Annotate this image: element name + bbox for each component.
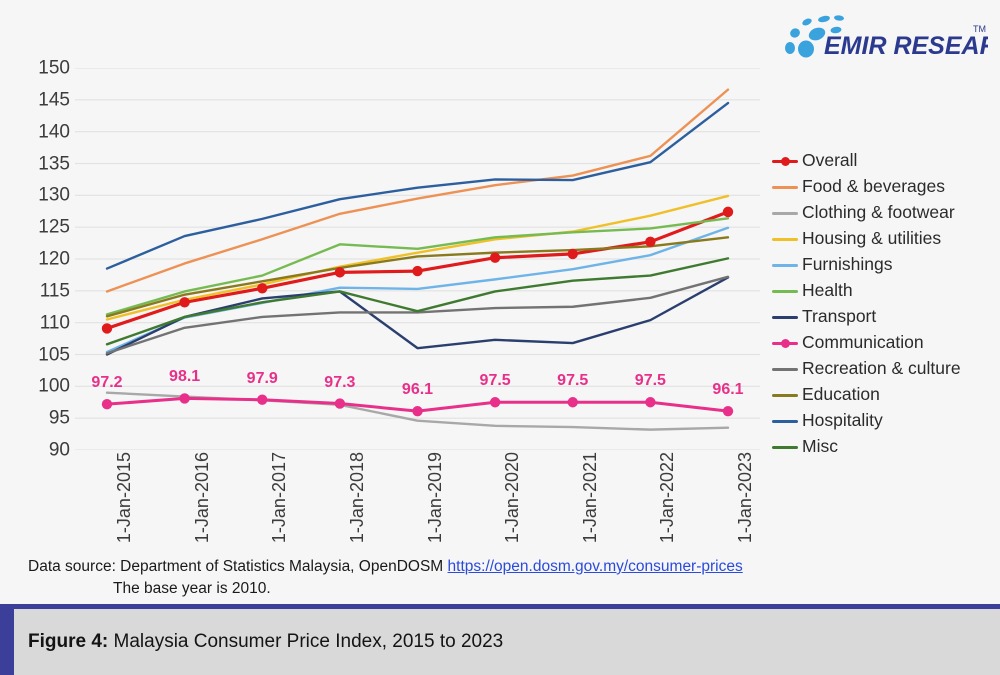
legend-swatch-icon	[772, 204, 798, 222]
x-axis-tick-label: 1-Jan-2022	[658, 452, 676, 543]
series-lines	[107, 90, 728, 430]
x-axis-tick-label: 1-Jan-2023	[736, 452, 754, 543]
data-point-marker	[723, 207, 733, 217]
emir-research-logo: EMIR RESEARCH TM	[776, 8, 988, 60]
logo-wordmark: EMIR RESEARCH	[824, 32, 988, 60]
data-point-marker	[723, 406, 733, 416]
data-point-marker	[568, 249, 578, 259]
gridlines	[75, 68, 760, 450]
data-point-marker	[490, 253, 500, 263]
legend-item-housing-utilities[interactable]: Housing & utilities	[772, 226, 992, 252]
data-point-marker	[257, 283, 267, 293]
legend-swatch-icon	[772, 230, 798, 248]
legend-swatch-icon	[772, 360, 798, 378]
legend-swatch-icon	[772, 386, 798, 404]
legend-item-label: Health	[802, 282, 853, 300]
legend-item-label: Overall	[802, 152, 857, 170]
data-point-marker	[257, 395, 267, 405]
base-year-note: The base year is 2010.	[28, 578, 743, 600]
x-axis-tick-label: 1-Jan-2015	[115, 452, 133, 543]
legend-item-recreation-culture[interactable]: Recreation & culture	[772, 356, 992, 382]
data-point-marker	[179, 297, 189, 307]
legend-swatch-icon	[772, 152, 798, 170]
legend-item-label: Communication	[802, 334, 924, 352]
legend-swatch-icon	[772, 282, 798, 300]
x-axis-tick-label: 1-Jan-2016	[193, 452, 211, 543]
x-axis-tick-label: 1-Jan-2019	[426, 452, 444, 543]
source-link[interactable]: https://open.dosm.gov.my/consumer-prices	[448, 558, 743, 575]
legend-swatch-icon	[772, 334, 798, 352]
y-axis-tick-label: 100	[26, 377, 70, 396]
legend-swatch-icon	[772, 308, 798, 326]
legend-item-hospitality[interactable]: Hospitality	[772, 408, 992, 434]
data-point-marker	[412, 406, 422, 416]
figure-area: EMIR RESEARCH TM 15014514013513012512011…	[0, 0, 1000, 604]
legend-swatch-icon	[772, 412, 798, 430]
data-point-marker	[335, 398, 345, 408]
y-axis-tick-label: 105	[26, 345, 70, 364]
y-axis-tick-label: 150	[26, 59, 70, 78]
x-axis-tick-label: 1-Jan-2018	[348, 452, 366, 543]
data-point-marker	[335, 267, 345, 277]
y-axis-tick-label: 90	[26, 441, 70, 460]
figure-caption-bar: Figure 4: Malaysia Consumer Price Index,…	[0, 604, 1000, 675]
series-line-food-beverages	[107, 90, 728, 292]
data-point-marker	[102, 399, 112, 409]
chart-plot-area	[75, 68, 760, 450]
legend-item-label: Education	[802, 386, 880, 404]
legend-swatch-icon	[772, 256, 798, 274]
legend-item-food-beverages[interactable]: Food & beverages	[772, 174, 992, 200]
legend-item-communication[interactable]: Communication	[772, 330, 992, 356]
x-axis-tick-label: 1-Jan-2017	[270, 452, 288, 543]
data-point-marker	[568, 397, 578, 407]
legend-item-label: Misc	[802, 438, 838, 456]
legend-item-health[interactable]: Health	[772, 278, 992, 304]
y-axis-tick-label: 95	[26, 409, 70, 428]
legend-item-misc[interactable]: Misc	[772, 434, 992, 460]
legend-item-furnishings[interactable]: Furnishings	[772, 252, 992, 278]
y-axis: 1501451401351301251201151101051009590	[18, 68, 70, 450]
data-point-marker	[102, 323, 112, 333]
source-note: Data source: Department of Statistics Ma…	[28, 556, 743, 601]
legend-item-clothing-footwear[interactable]: Clothing & footwear	[772, 200, 992, 226]
legend-item-label: Clothing & footwear	[802, 204, 955, 222]
x-axis: 1-Jan-20151-Jan-20161-Jan-20171-Jan-2018…	[75, 452, 760, 552]
legend-item-overall[interactable]: Overall	[772, 148, 992, 174]
y-axis-tick-label: 120	[26, 250, 70, 269]
x-axis-tick-label: 1-Jan-2021	[581, 452, 599, 543]
figure-number-label: Figure 4:	[28, 631, 108, 652]
legend-item-label: Transport	[802, 308, 876, 326]
legend-item-label: Furnishings	[802, 256, 892, 274]
legend-item-label: Hospitality	[802, 412, 883, 430]
y-axis-tick-label: 130	[26, 186, 70, 205]
data-point-marker	[645, 397, 655, 407]
y-axis-tick-label: 145	[26, 90, 70, 109]
legend-item-transport[interactable]: Transport	[772, 304, 992, 330]
figure-caption-text: Figure 4: Malaysia Consumer Price Index,…	[28, 631, 503, 653]
legend-item-label: Food & beverages	[802, 178, 945, 196]
legend-item-label: Recreation & culture	[802, 360, 961, 378]
figure-caption-panel: Figure 4: Malaysia Consumer Price Index,…	[14, 609, 1000, 675]
y-axis-tick-label: 125	[26, 218, 70, 237]
y-axis-tick-label: 135	[26, 154, 70, 173]
legend-swatch-icon	[772, 438, 798, 456]
source-note-prefix: Data source: Department of Statistics Ma…	[28, 558, 448, 575]
data-point-marker	[490, 397, 500, 407]
y-axis-tick-label: 110	[26, 313, 70, 332]
data-point-marker	[179, 393, 189, 403]
chart-legend: OverallFood & beveragesClothing & footwe…	[772, 148, 992, 460]
legend-item-education[interactable]: Education	[772, 382, 992, 408]
legend-swatch-icon	[772, 178, 798, 196]
data-point-marker	[412, 266, 422, 276]
legend-item-label: Housing & utilities	[802, 230, 941, 248]
y-axis-tick-label: 115	[26, 281, 70, 300]
x-axis-tick-label: 1-Jan-2020	[503, 452, 521, 543]
y-axis-tick-label: 140	[26, 122, 70, 141]
logo-trademark-icon: TM	[973, 24, 986, 34]
figure-title-label: Malaysia Consumer Price Index, 2015 to 2…	[114, 631, 504, 652]
data-point-marker	[645, 237, 655, 247]
